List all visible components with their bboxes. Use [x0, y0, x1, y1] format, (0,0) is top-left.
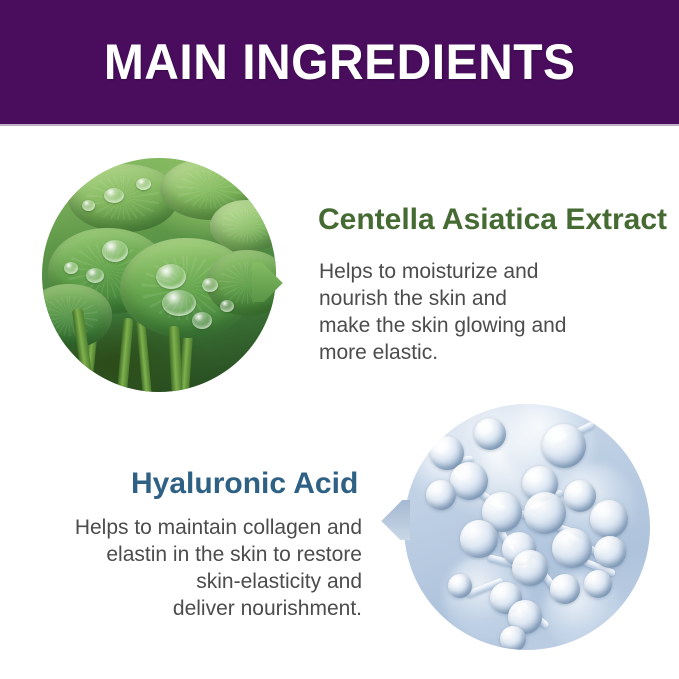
ingredient-heading-hyaluronic: Hyaluronic Acid — [131, 469, 358, 499]
molecule-atom — [500, 626, 526, 650]
centella-image-circle — [42, 158, 276, 392]
water-droplet — [202, 278, 218, 292]
header-banner: MAIN INGREDIENTS — [0, 0, 679, 124]
header-divider — [0, 124, 679, 126]
water-droplet — [104, 188, 124, 203]
water-droplet — [156, 264, 186, 289]
water-droplet — [64, 262, 78, 274]
molecule-atom — [524, 492, 566, 534]
water-droplet — [102, 240, 128, 262]
centella-image — [42, 158, 276, 392]
water-droplet — [82, 200, 95, 211]
page-title: MAIN INGREDIENTS — [104, 37, 576, 87]
water-droplet — [220, 300, 234, 312]
water-droplet — [86, 268, 104, 283]
molecule-atom — [564, 480, 596, 512]
water-droplet — [136, 178, 151, 190]
ingredient-description-centella: Helps to moisturize and nourish the skin… — [319, 258, 619, 366]
water-droplet — [162, 290, 196, 316]
hyaluronic-image-circle — [404, 404, 650, 650]
hyaluronic-pointer-notch — [370, 500, 410, 540]
ingredients-infographic: MAIN INGREDIENTS — [0, 0, 679, 679]
molecule-atom — [448, 574, 472, 598]
molecule-atom — [590, 500, 628, 538]
molecule-atom — [460, 520, 498, 558]
water-droplet — [192, 312, 212, 329]
molecule-atom — [552, 528, 592, 568]
molecule-atom — [512, 550, 548, 586]
centella-pointer-notch — [252, 262, 292, 302]
molecule-atom — [474, 418, 506, 450]
molecule-atom — [594, 536, 626, 568]
molecule-atom — [584, 570, 612, 598]
hyaluronic-image — [404, 404, 650, 650]
molecule-atom — [426, 480, 456, 510]
ingredient-description-hyaluronic: Helps to maintain collagen and elastin i… — [22, 514, 362, 622]
molecule-atom — [542, 424, 586, 468]
ingredient-heading-centella: Centella Asiatica Extract — [318, 205, 667, 235]
molecule-atom — [550, 574, 580, 604]
